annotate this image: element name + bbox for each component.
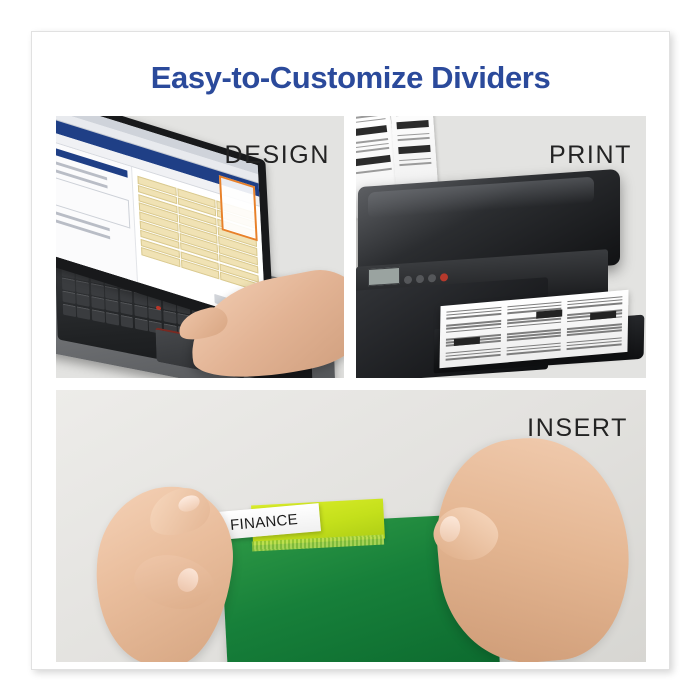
panel-label-insert: INSERT	[527, 414, 628, 443]
page-title: Easy-to-Customize Dividers	[32, 60, 669, 96]
panel-print: PRINT	[356, 116, 646, 378]
panel-design: DESIGN	[56, 116, 344, 378]
content-card: Easy-to-Customize Dividers	[31, 31, 670, 670]
printer-lcd-display	[368, 267, 400, 286]
panel-insert: FINANCE INSERT	[56, 390, 646, 662]
label-strip-text: FINANCE	[229, 511, 298, 534]
product-infographic: Easy-to-Customize Dividers	[0, 0, 700, 700]
panel-label-print: PRINT	[549, 141, 632, 170]
panel-label-design: DESIGN	[225, 141, 330, 170]
